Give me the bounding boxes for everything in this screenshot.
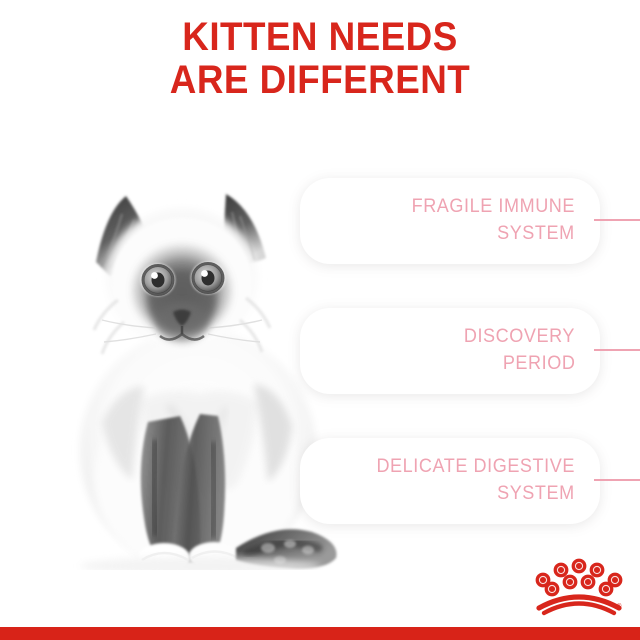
registered-mark: ® [617,603,622,610]
need-card-delicate-digestive-system[interactable]: DELICATE DIGESTIVE SYSTEM [300,438,600,524]
page-title-line-2: ARE DIFFERENT [26,59,615,102]
need-label-line-1: FRAGILE IMMUNE [412,194,575,221]
page-title: KITTEN NEEDS ARE DIFFERENT [0,16,640,102]
need-card-fragile-immune-system[interactable]: FRAGILE IMMUNE SYSTEM [300,178,600,264]
need-label-line-2: PERIOD [502,351,575,378]
need-connector-line-3 [594,479,640,481]
need-connector-line-2 [594,349,640,351]
need-connector-line-1 [594,219,640,221]
page-title-line-1: KITTEN NEEDS [26,16,615,59]
royal-canin-crown-logo: ® [533,552,625,616]
poster-root: KITTEN NEEDS ARE DIFFERENT [0,0,640,640]
bottom-red-bar [0,627,640,640]
need-label-line-2: SYSTEM [497,481,575,508]
need-card-discovery-period[interactable]: DISCOVERY PERIOD [300,308,600,394]
need-label-line-1: DELICATE DIGESTIVE [377,454,575,481]
need-label-line-1: DISCOVERY [464,324,575,351]
need-label-line-2: SYSTEM [497,221,575,248]
